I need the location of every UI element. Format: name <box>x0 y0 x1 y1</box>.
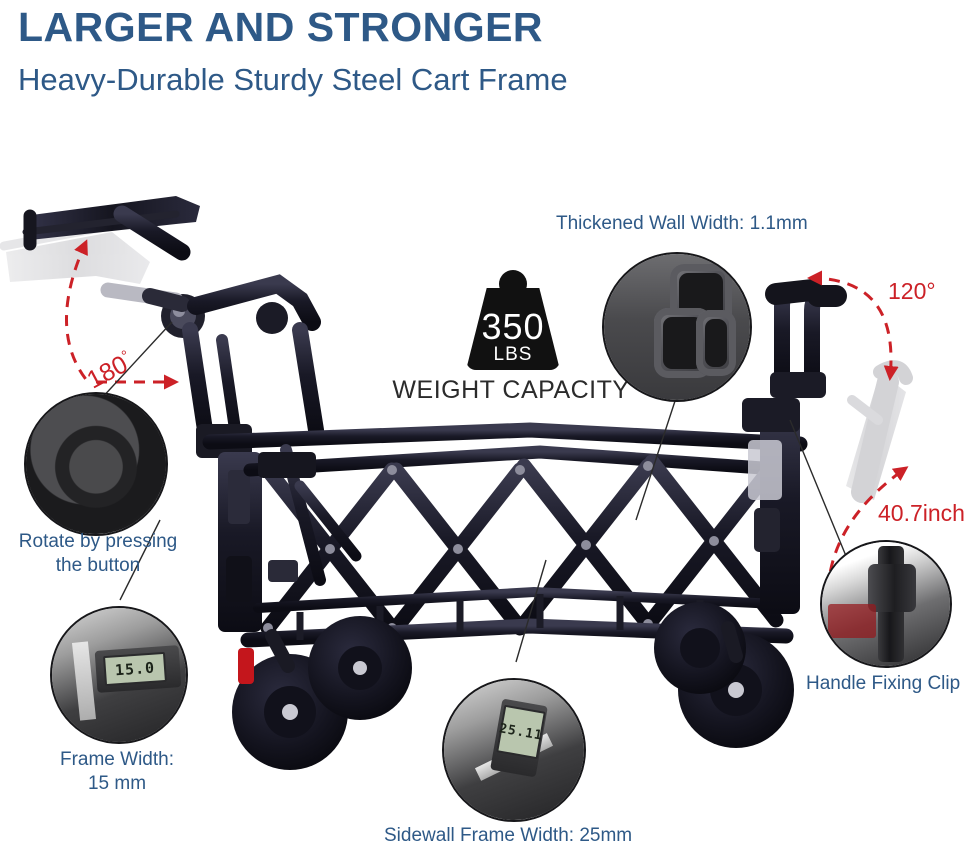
infographic-page: LARGER AND STRONGER Heavy-Durable Sturdy… <box>0 0 977 858</box>
rotate-button-label: Rotate by pressing the button <box>2 530 194 578</box>
leader-clip-circle <box>790 420 846 556</box>
rotation-arc-180 <box>66 242 88 382</box>
weight-capacity-caption: WEIGHT CAPACITY <box>380 376 642 405</box>
handle-length-label: 40.7inch <box>878 500 965 527</box>
sidewall-frame-width-photo-circle: 25.11 <box>442 678 586 822</box>
frame-width-label: Frame Width: 15 mm <box>24 748 210 796</box>
rotation-arc-120 <box>810 278 891 378</box>
sidewall-caliper-reading: 25.11 <box>496 705 546 760</box>
handle-fixing-clip-photo-circle <box>820 540 952 668</box>
handle-fixing-clip-label: Handle Fixing Clip <box>806 672 960 696</box>
thickened-wall-label: Thickened Wall Width: 1.1mm <box>556 212 808 236</box>
leader-sidewall-circle <box>516 560 546 662</box>
leader-tube-circle <box>636 398 676 520</box>
rotate-button-photo-circle <box>24 392 168 536</box>
frame-width-photo-circle: 15.0 <box>50 606 188 744</box>
rotate-button-icon <box>26 394 166 534</box>
sidewall-frame-width-label: Sidewall Frame Width: 25mm <box>384 824 632 848</box>
steel-tube-photo-circle <box>602 252 752 402</box>
frame-width-caliper-reading: 15.0 <box>103 652 167 686</box>
weight-unit: LBS <box>466 344 560 366</box>
handle-angle-120-label: 120° <box>888 278 936 305</box>
weight-value: 350 <box>466 306 560 348</box>
tube-cross-section-right <box>696 310 736 376</box>
weight-capacity-badge: 350 LBS <box>466 270 560 370</box>
